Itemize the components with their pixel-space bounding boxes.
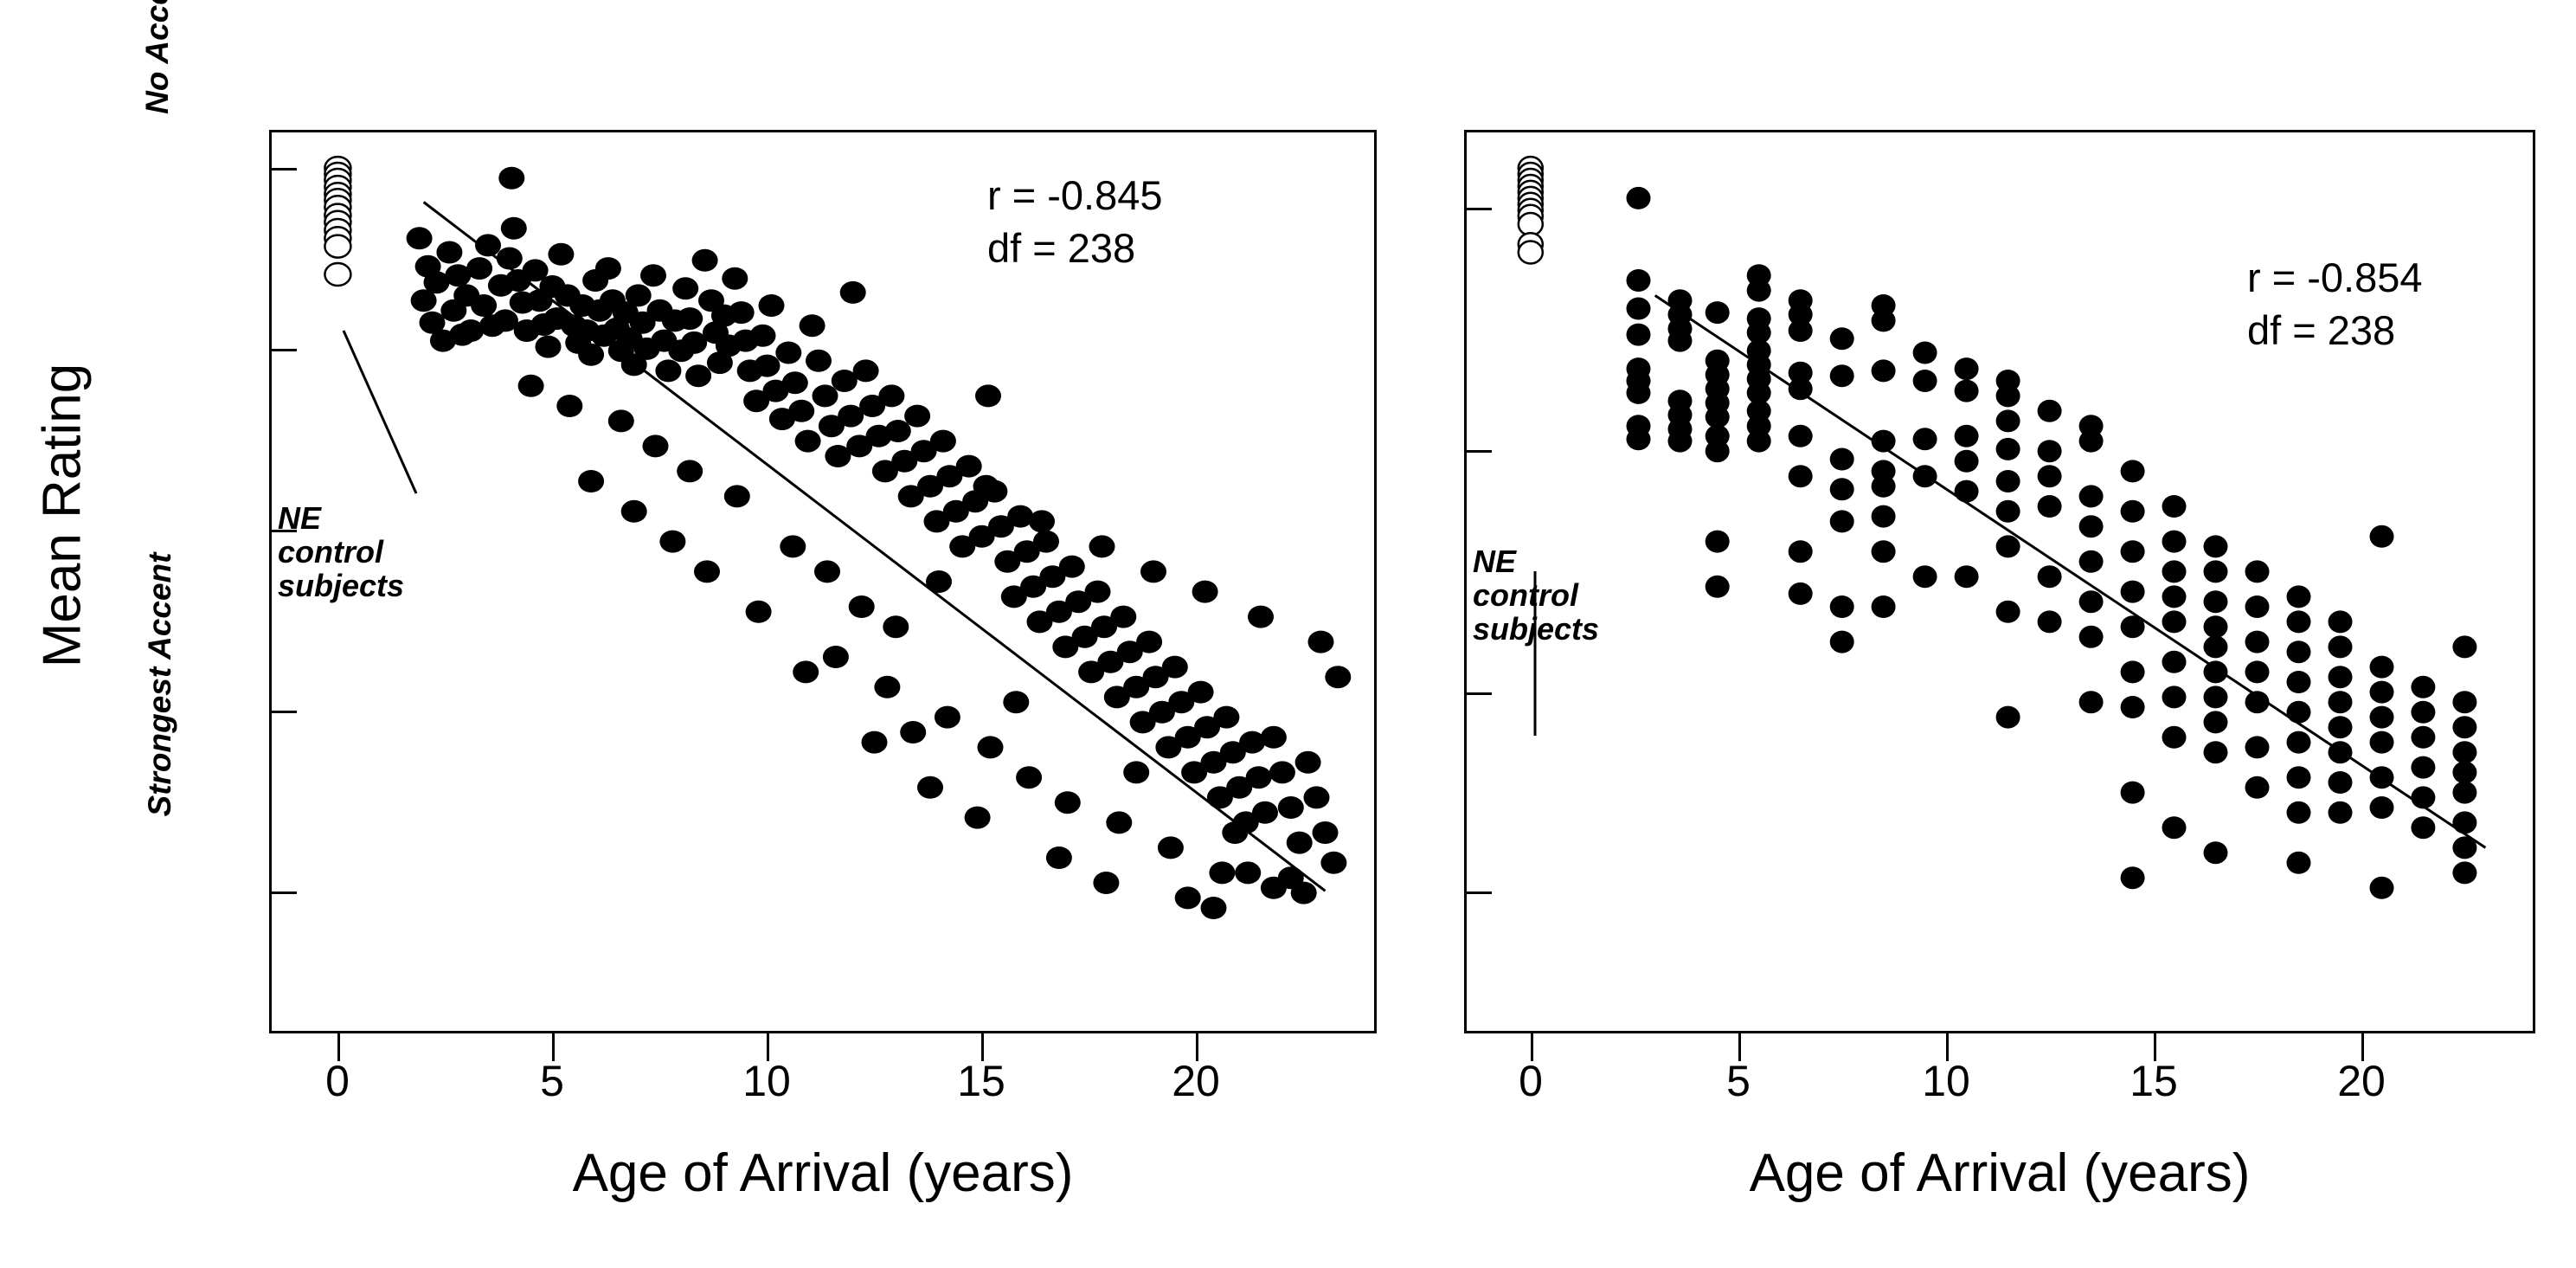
data-point <box>2038 400 2062 422</box>
data-point <box>2079 590 2104 613</box>
data-point <box>885 420 911 442</box>
data-point <box>1872 475 1896 498</box>
y-tick-right-4 <box>1464 891 1492 894</box>
data-point <box>1110 606 1136 628</box>
data-point <box>935 706 960 729</box>
data-point <box>1747 280 1771 302</box>
y-axis-title: Mean Rating <box>32 351 93 680</box>
data-point <box>2038 465 2062 487</box>
data-point <box>2204 560 2228 583</box>
data-point <box>2204 590 2228 613</box>
data-point <box>2287 801 2311 824</box>
data-point <box>1955 357 1979 380</box>
data-point <box>1872 309 1896 331</box>
data-point <box>1789 425 1813 447</box>
data-point <box>1089 535 1115 557</box>
figure-root: Mean Rating No Accent Strongest Accent r… <box>0 0 2576 1268</box>
ne-control-annotation-right: NE control subjects <box>1473 545 1599 647</box>
y-tick-right-1 <box>1464 208 1492 210</box>
data-point <box>965 807 991 829</box>
data-point <box>1706 531 1730 553</box>
y-tick-right-2 <box>1464 450 1492 453</box>
data-point <box>724 485 750 507</box>
data-point <box>1209 861 1235 884</box>
data-point <box>956 455 982 478</box>
data-point <box>823 646 849 668</box>
stats-df-right: df = 238 <box>2247 304 2422 357</box>
data-point <box>2411 726 2435 749</box>
data-point <box>2204 535 2228 557</box>
data-point <box>2079 550 2104 573</box>
ne-annotation-line-2: control <box>278 536 404 570</box>
data-point <box>2121 500 2145 523</box>
data-point <box>1996 601 2020 623</box>
data-point <box>1123 761 1149 783</box>
data-point <box>2370 706 2394 729</box>
data-point <box>2038 610 2062 633</box>
data-point <box>1996 438 2020 460</box>
x-tick-label-left-0: 0 <box>286 1056 389 1106</box>
data-point <box>2370 656 2394 679</box>
data-point <box>640 264 666 286</box>
stats-r-right: r = -0.854 <box>2247 251 2422 304</box>
data-point <box>1140 560 1166 583</box>
data-point <box>1955 425 1979 447</box>
regression-line <box>1655 295 2486 847</box>
ne-control-point <box>1519 241 1543 264</box>
data-point <box>1872 505 1896 528</box>
data-point <box>2287 766 2311 788</box>
data-point <box>2411 701 2435 724</box>
data-point <box>793 660 819 683</box>
data-point <box>1830 631 1854 653</box>
data-point <box>1830 327 1854 350</box>
data-point <box>1996 706 2020 729</box>
data-point <box>1106 811 1132 834</box>
data-point <box>2204 685 2228 708</box>
data-point <box>1627 428 1651 450</box>
data-point <box>2162 726 2187 749</box>
data-point <box>694 560 720 583</box>
data-point <box>1872 595 1896 618</box>
data-point <box>795 430 821 453</box>
data-point <box>672 277 698 299</box>
data-point <box>2452 691 2476 713</box>
data-point <box>750 325 776 347</box>
y-tick-left-1 <box>269 168 297 171</box>
data-point <box>2452 782 2476 804</box>
data-point <box>1304 786 1330 808</box>
data-point <box>782 371 808 394</box>
data-point <box>2287 640 2311 663</box>
data-point <box>1789 583 1813 605</box>
data-point <box>978 736 1004 758</box>
x-tick-label-left-10: 10 <box>715 1056 819 1106</box>
data-point <box>1872 540 1896 563</box>
data-point <box>1789 465 1813 487</box>
data-point <box>849 595 875 618</box>
data-point <box>2452 635 2476 658</box>
data-point <box>1627 382 1651 404</box>
data-point <box>2204 615 2228 638</box>
data-point <box>1278 796 1304 819</box>
x-tick-label-left-15: 15 <box>929 1056 1033 1106</box>
data-point <box>878 384 904 407</box>
data-point <box>883 615 909 638</box>
data-point <box>1668 430 1693 453</box>
data-point <box>2038 495 2062 518</box>
data-point <box>471 294 497 317</box>
data-point <box>621 500 647 523</box>
x-tick-label-left-20: 20 <box>1144 1056 1248 1106</box>
data-point <box>2079 626 2104 648</box>
data-point <box>466 257 492 280</box>
data-point <box>813 384 838 407</box>
data-point <box>2411 676 2435 698</box>
ne-annotation-line-3: subjects <box>278 570 404 603</box>
regression-line <box>424 203 1326 891</box>
data-point <box>2370 796 2394 819</box>
x-axis-title-left: Age of Arrival (years) <box>269 1142 1377 1204</box>
data-point <box>2079 515 2104 537</box>
data-point <box>2287 585 2311 608</box>
data-point <box>1996 409 2020 432</box>
data-point <box>1706 576 1730 598</box>
data-point <box>692 249 718 272</box>
data-point <box>1913 342 1937 364</box>
data-point <box>436 241 462 264</box>
data-point <box>2079 691 2104 713</box>
data-point <box>1830 510 1854 532</box>
data-point <box>2287 701 2311 724</box>
data-point <box>677 460 703 482</box>
data-point <box>2245 560 2270 583</box>
data-point <box>685 364 711 387</box>
data-point <box>1955 380 1979 402</box>
data-point <box>2245 776 2270 799</box>
data-point <box>2079 430 2104 453</box>
data-point <box>1201 897 1227 919</box>
data-point <box>1213 706 1239 729</box>
data-point <box>1059 556 1085 578</box>
scatter-panel-right: r = -0.854 df = 238 NE control subjects <box>1464 130 2535 1033</box>
y-tick-left-4 <box>269 711 297 713</box>
y-tick-right-3 <box>1464 692 1492 695</box>
x-tick-label-left-5: 5 <box>500 1056 604 1106</box>
data-point <box>655 359 681 382</box>
ne-control-annotation-left: NE control subjects <box>278 502 404 603</box>
data-point <box>2287 610 2311 633</box>
x-tick-label-right-0: 0 <box>1479 1056 1583 1106</box>
data-point <box>1627 298 1651 320</box>
data-point <box>407 227 433 249</box>
stats-r-left: r = -0.845 <box>987 169 1162 222</box>
data-point <box>1188 681 1214 704</box>
data-point <box>1627 269 1651 292</box>
y-anchor-label-no-accent: No Accent <box>139 0 176 144</box>
data-point <box>2370 877 2394 899</box>
ne-annotation-line-2: control <box>1473 579 1599 613</box>
data-point <box>814 560 840 583</box>
data-point <box>2245 595 2270 618</box>
data-point <box>1913 565 1937 588</box>
data-point <box>677 307 703 330</box>
data-point <box>2245 631 2270 653</box>
data-point <box>1830 595 1854 618</box>
data-point <box>930 430 956 453</box>
data-point <box>1162 656 1188 679</box>
ne-control-markers <box>1519 157 1543 263</box>
data-point <box>2452 861 2476 884</box>
data-point <box>2452 741 2476 763</box>
data-point <box>2121 460 2145 482</box>
data-point <box>2121 581 2145 603</box>
data-point <box>1325 666 1351 688</box>
data-point <box>2245 736 2270 758</box>
data-point <box>853 359 879 382</box>
ne-annotation-line-1: NE <box>278 502 404 536</box>
data-point <box>2121 540 2145 563</box>
data-point <box>1830 364 1854 387</box>
data-point <box>548 243 574 266</box>
data-point <box>2204 711 2228 733</box>
data-point <box>498 167 524 190</box>
data-point <box>1830 478 1854 500</box>
ne-control-markers <box>324 157 350 286</box>
data-point <box>759 294 785 317</box>
data-point <box>862 731 888 754</box>
data-point <box>2287 731 2311 754</box>
y-tick-left-2 <box>269 349 297 351</box>
data-point <box>1955 480 1979 503</box>
data-point <box>1830 448 1854 471</box>
data-point <box>1192 581 1218 603</box>
data-point <box>2162 495 2187 518</box>
data-point <box>2204 841 2228 864</box>
data-point <box>2329 771 2353 794</box>
data-point <box>501 217 527 240</box>
data-point <box>1308 631 1334 653</box>
data-point <box>900 721 926 743</box>
x-tick-label-right-20: 20 <box>2309 1056 2413 1106</box>
data-point <box>788 400 814 422</box>
data-point <box>2452 761 2476 783</box>
data-point <box>2162 531 2187 553</box>
data-point <box>536 336 562 358</box>
data-point <box>729 301 755 324</box>
data-point <box>2162 651 2187 673</box>
data-point <box>917 776 943 799</box>
data-point <box>2287 671 2311 693</box>
data-point <box>1269 761 1295 783</box>
stats-block-left: r = -0.845 df = 238 <box>987 169 1162 274</box>
data-point <box>2287 852 2311 874</box>
data-point <box>1627 324 1651 346</box>
scatter-panel-left: r = -0.845 df = 238 NE control subjects <box>269 130 1377 1033</box>
data-point <box>2204 635 2228 658</box>
data-point <box>1706 440 1730 462</box>
ne-annotation-line-3: subjects <box>1473 613 1599 647</box>
data-point <box>2329 691 2353 713</box>
data-point <box>1252 801 1278 824</box>
data-point <box>840 281 866 304</box>
data-point <box>904 405 930 428</box>
data-point <box>643 434 669 457</box>
data-point <box>746 601 772 623</box>
data-point <box>1789 540 1813 563</box>
data-point <box>2329 666 2353 688</box>
x-axis-title-right: Age of Arrival (years) <box>1464 1142 2535 1204</box>
data-point <box>1029 510 1055 532</box>
data-point <box>1668 330 1693 352</box>
stats-df-left: df = 238 <box>987 222 1162 274</box>
data-point <box>2329 610 2353 633</box>
data-point <box>2370 681 2394 704</box>
data-point <box>1313 821 1339 844</box>
data-point <box>1913 370 1937 392</box>
data-point <box>1222 821 1248 844</box>
stats-block-right: r = -0.854 df = 238 <box>2247 251 2422 357</box>
data-point <box>1136 631 1162 653</box>
data-point <box>2452 716 2476 738</box>
data-point <box>975 384 1001 407</box>
data-point <box>626 284 652 306</box>
data-point <box>973 475 999 498</box>
data-point <box>775 342 801 364</box>
data-point <box>1747 430 1771 453</box>
data-point <box>518 375 544 397</box>
data-point <box>578 344 604 366</box>
ne-control-point <box>324 263 350 286</box>
data-point <box>1287 832 1313 854</box>
data-point <box>1046 846 1072 869</box>
scatter-series <box>407 167 1352 919</box>
data-point <box>556 395 582 417</box>
data-point <box>1261 726 1287 749</box>
y-anchor-label-strongest-accent: Strongest Accent <box>142 516 178 853</box>
data-point <box>1175 886 1201 909</box>
data-point <box>659 531 685 553</box>
scatter-canvas-left <box>269 130 1377 1033</box>
data-point <box>2079 485 2104 507</box>
y-tick-left-5 <box>269 891 297 894</box>
data-point <box>2121 696 2145 718</box>
data-point <box>2370 525 2394 548</box>
data-point <box>780 535 806 557</box>
data-point <box>1789 319 1813 342</box>
data-point <box>2121 782 2145 804</box>
data-point <box>1996 535 2020 557</box>
data-point <box>1235 861 1261 884</box>
data-point <box>806 350 832 372</box>
data-point <box>2329 716 2353 738</box>
ne-annotation-leader-line <box>344 331 416 493</box>
data-point <box>1955 565 1979 588</box>
data-point <box>2411 816 2435 839</box>
data-point <box>800 314 825 337</box>
data-point <box>2162 585 2187 608</box>
data-point <box>2162 560 2187 583</box>
data-point <box>1913 428 1937 450</box>
data-point <box>1085 581 1111 603</box>
data-point <box>2162 816 2187 839</box>
data-point <box>2452 811 2476 834</box>
data-point <box>2038 565 2062 588</box>
data-point <box>2329 801 2353 824</box>
data-point <box>2370 731 2394 754</box>
data-point <box>2245 660 2270 683</box>
data-point <box>578 470 604 492</box>
data-point <box>608 409 634 432</box>
data-point <box>1246 766 1272 788</box>
data-point <box>1706 301 1730 324</box>
data-point <box>1033 531 1059 553</box>
x-tick-label-right-5: 5 <box>1686 1056 1790 1106</box>
data-point <box>1016 766 1042 788</box>
ne-control-point <box>324 235 350 258</box>
data-point <box>1158 836 1184 859</box>
data-point <box>1996 384 2020 407</box>
data-point <box>1955 450 1979 473</box>
data-point <box>411 289 437 312</box>
data-point <box>1996 500 2020 523</box>
data-point <box>874 676 900 698</box>
data-point <box>2329 635 2353 658</box>
data-point <box>2411 756 2435 779</box>
data-point <box>1872 359 1896 382</box>
data-point <box>2162 685 2187 708</box>
data-point <box>1996 470 2020 492</box>
data-point <box>1320 852 1346 874</box>
data-point <box>1295 751 1321 774</box>
data-point <box>1291 882 1317 904</box>
data-point <box>1627 187 1651 209</box>
data-point <box>1248 606 1274 628</box>
data-point <box>2121 866 2145 889</box>
data-point <box>1055 791 1081 814</box>
data-point <box>1093 872 1119 894</box>
x-tick-label-right-10: 10 <box>1894 1056 1998 1106</box>
data-point <box>2121 660 2145 683</box>
data-point <box>2204 741 2228 763</box>
ne-annotation-line-1: NE <box>1473 545 1599 579</box>
data-point <box>1003 691 1029 713</box>
data-point <box>595 257 621 280</box>
data-point <box>722 267 748 290</box>
data-point <box>2038 440 2062 462</box>
data-point <box>2162 610 2187 633</box>
data-point <box>755 355 781 377</box>
x-tick-label-right-15: 15 <box>2102 1056 2206 1106</box>
